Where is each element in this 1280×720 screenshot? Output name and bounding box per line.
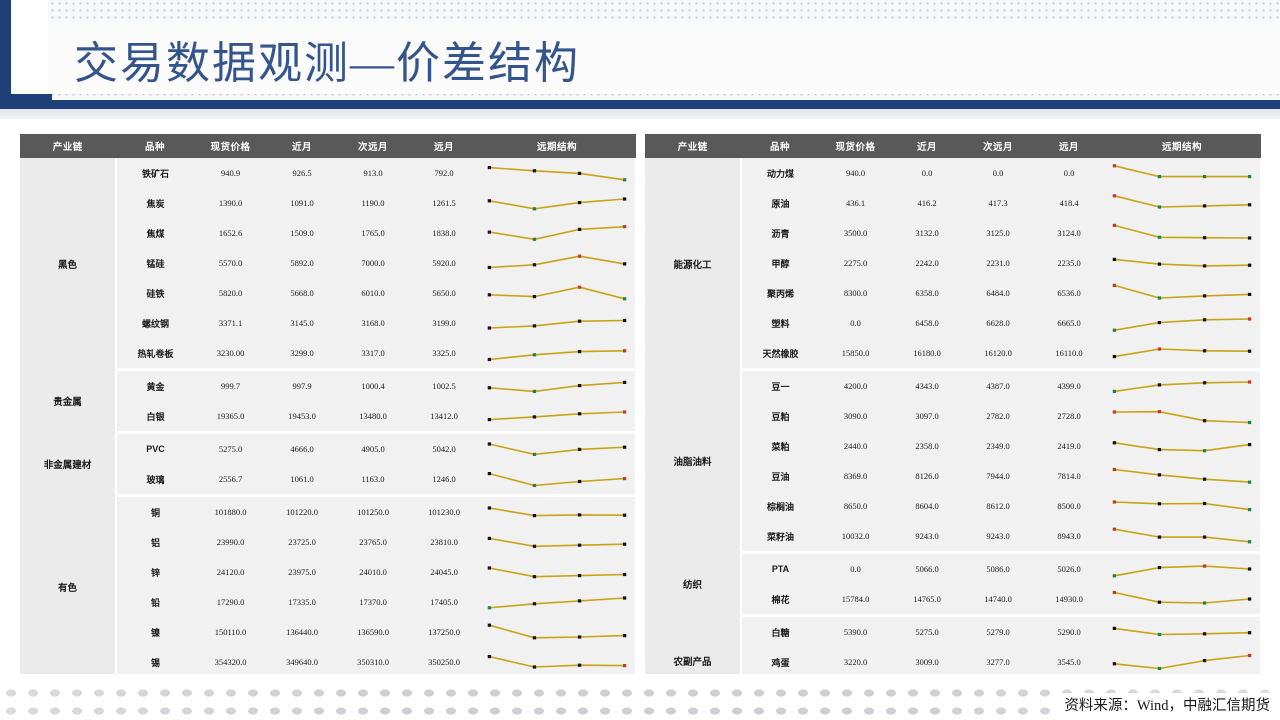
far-month-cell: 5650.0 <box>409 278 479 308</box>
forward-structure-cell <box>1104 401 1260 431</box>
near-month-cell: 17335.0 <box>267 587 337 617</box>
far-month-cell: 17405.0 <box>409 587 479 617</box>
forward-structure-cell <box>1104 218 1260 248</box>
forward-structure-cell <box>1104 308 1260 338</box>
right-table-body: 能源化工动力煤940.00.00.00.0 原油436.1416.2417.34… <box>645 158 1260 707</box>
mid-far-month-cell: 6484.0 <box>962 278 1034 308</box>
variety-cell: 玻璃 <box>116 464 194 496</box>
forward-structure-cell <box>1104 370 1260 402</box>
forward-structure-cell <box>1104 461 1260 491</box>
table-row: 非金属建材PVC5275.04666.04905.05042.0 <box>20 433 635 465</box>
forward-curve-sparkline <box>479 464 635 494</box>
variety-cell: PTA <box>741 553 819 585</box>
far-month-cell: 16110.0 <box>1034 338 1104 370</box>
industry-chain-cell: 非金属建材 <box>20 433 116 496</box>
far-month-cell: 2419.0 <box>1034 431 1104 461</box>
forward-curve-sparkline <box>479 308 635 338</box>
industry-chain-cell: 有色 <box>20 496 116 679</box>
variety-cell: 螺纹钢 <box>116 308 194 338</box>
variety-cell: 聚丙烯 <box>741 278 819 308</box>
table-row: 农副产品白糖5390.05275.05279.05290.0 <box>645 616 1260 648</box>
spot-price-cell: 8650.0 <box>819 491 892 521</box>
mid-far-month-cell: 0.0 <box>962 158 1034 188</box>
mid-far-month-cell: 14740.0 <box>962 584 1034 616</box>
forward-structure-cell <box>479 587 635 617</box>
forward-curve-sparkline <box>1104 401 1260 431</box>
spot-price-cell: 3371.1 <box>194 308 267 338</box>
left-price-table: 产业链 品种 现货价格 近月 次远月 远月 远期结构 黑色铁矿石940.9926… <box>20 134 636 720</box>
mid-far-month-cell: 4905.0 <box>337 433 409 465</box>
forward-curve-sparkline <box>1104 491 1260 521</box>
col-header-structure: 远期结构 <box>479 134 635 158</box>
spot-price-cell: 17290.0 <box>194 587 267 617</box>
spot-price-cell: 4200.0 <box>819 370 892 402</box>
mid-far-month-cell: 2349.0 <box>962 431 1034 461</box>
spot-price-cell: 3220.0 <box>819 647 892 677</box>
forward-curve-sparkline <box>479 371 635 401</box>
far-month-cell: 8943.0 <box>1034 521 1104 553</box>
spot-price-cell: 2556.7 <box>194 464 267 496</box>
spot-price-cell: 2440.0 <box>819 431 892 461</box>
forward-curve-sparkline <box>1104 278 1260 308</box>
forward-structure-cell <box>479 218 635 248</box>
near-month-cell: 3097.0 <box>892 401 962 431</box>
near-month-cell: 1509.0 <box>267 218 337 248</box>
spot-price-cell: 436.1 <box>819 188 892 218</box>
spot-price-cell: 999.7 <box>194 370 267 402</box>
mid-far-month-cell: 4387.0 <box>962 370 1034 402</box>
forward-curve-sparkline <box>1104 248 1260 278</box>
variety-cell: 焦炭 <box>116 188 194 218</box>
forward-curve-sparkline <box>1104 188 1260 218</box>
forward-curve-sparkline <box>1104 158 1260 188</box>
variety-cell: 豆粕 <box>741 401 819 431</box>
spot-price-cell: 940.0 <box>819 158 892 188</box>
variety-cell: 动力煤 <box>741 158 819 188</box>
far-month-cell: 23810.0 <box>409 527 479 557</box>
far-month-cell: 1246.0 <box>409 464 479 496</box>
forward-curve-sparkline <box>479 278 635 308</box>
forward-structure-cell <box>479 278 635 308</box>
forward-curve-sparkline <box>479 218 635 248</box>
far-month-cell: 2235.0 <box>1034 248 1104 278</box>
forward-structure-cell <box>1104 188 1260 218</box>
near-month-cell: 19453.0 <box>267 401 337 433</box>
far-month-cell: 418.4 <box>1034 188 1104 218</box>
mid-far-month-cell: 6010.0 <box>337 278 409 308</box>
spot-price-cell: 5570.0 <box>194 248 267 278</box>
forward-structure-cell <box>1104 584 1260 616</box>
variety-cell: 菜粕 <box>741 431 819 461</box>
far-month-cell: 1261.5 <box>409 188 479 218</box>
forward-structure-cell <box>479 496 635 528</box>
variety-cell: 硅铁 <box>116 278 194 308</box>
far-month-cell: 6536.0 <box>1034 278 1104 308</box>
forward-curve-sparkline <box>1104 584 1260 614</box>
near-month-cell: 23725.0 <box>267 527 337 557</box>
spot-price-cell: 0.0 <box>819 553 892 585</box>
table-row: 能源化工动力煤940.00.00.00.0 <box>645 158 1260 188</box>
mid-far-month-cell: 5086.0 <box>962 553 1034 585</box>
spot-price-cell: 15850.0 <box>819 338 892 370</box>
price-structure-tables: 产业链 品种 现货价格 近月 次远月 远月 远期结构 黑色铁矿石940.9926… <box>20 134 1260 694</box>
forward-curve-sparkline <box>479 527 635 557</box>
near-month-cell: 0.0 <box>892 158 962 188</box>
near-month-cell: 5066.0 <box>892 553 962 585</box>
right-price-table: 产业链 品种 现货价格 近月 次远月 远月 远期结构 能源化工动力煤940.00… <box>645 134 1261 707</box>
mid-far-month-cell: 1765.0 <box>337 218 409 248</box>
industry-chain-cell: 纺织 <box>645 553 741 616</box>
table-row: 油脂油料豆一4200.04343.04387.04399.0 <box>645 370 1260 402</box>
variety-cell: 锌 <box>116 557 194 587</box>
far-month-cell: 7814.0 <box>1034 461 1104 491</box>
variety-cell: 镍 <box>116 617 194 647</box>
variety-cell: 鸡蛋 <box>741 647 819 677</box>
spot-price-cell: 1652.6 <box>194 218 267 248</box>
forward-curve-sparkline <box>479 158 635 188</box>
far-month-cell: 137250.0 <box>409 617 479 647</box>
variety-cell: 棉花 <box>741 584 819 616</box>
forward-structure-cell <box>1104 491 1260 521</box>
forward-curve-sparkline <box>479 647 635 677</box>
col-header-mid: 次远月 <box>337 134 409 158</box>
forward-curve-sparkline <box>1104 371 1260 401</box>
mid-far-month-cell: 23765.0 <box>337 527 409 557</box>
forward-structure-cell <box>1104 647 1260 677</box>
forward-structure-cell <box>1104 278 1260 308</box>
spot-price-cell: 101880.0 <box>194 496 267 528</box>
near-month-cell: 1061.0 <box>267 464 337 496</box>
near-month-cell: 997.9 <box>267 370 337 402</box>
far-month-cell: 5026.0 <box>1034 553 1104 585</box>
variety-cell: 黄金 <box>116 370 194 402</box>
forward-structure-cell <box>479 527 635 557</box>
title-divider-light <box>0 109 1280 119</box>
industry-chain-cell: 能源化工 <box>645 158 741 370</box>
table-row: 黑色铁矿石940.9926.5913.0792.0 <box>20 158 635 188</box>
forward-curve-sparkline <box>1104 338 1260 368</box>
col-header-spot: 现货价格 <box>819 134 892 158</box>
forward-structure-cell <box>479 433 635 465</box>
far-month-cell: 24045.0 <box>409 557 479 587</box>
forward-structure-cell <box>1104 553 1260 585</box>
variety-cell: 锰硅 <box>116 248 194 278</box>
col-header-mid: 次远月 <box>962 134 1034 158</box>
mid-far-month-cell: 3125.0 <box>962 218 1034 248</box>
col-header-chain: 产业链 <box>645 134 741 158</box>
variety-cell: 甲醇 <box>741 248 819 278</box>
industry-chain-cell: 油脂油料 <box>645 370 741 553</box>
mid-far-month-cell: 9243.0 <box>962 521 1034 553</box>
mid-far-month-cell: 3277.0 <box>962 647 1034 677</box>
far-month-cell: 0.0 <box>1034 158 1104 188</box>
forward-curve-sparkline <box>479 587 635 617</box>
spot-price-cell: 150110.0 <box>194 617 267 647</box>
col-header-spot: 现货价格 <box>194 134 267 158</box>
near-month-cell: 5668.0 <box>267 278 337 308</box>
forward-structure-cell <box>479 338 635 370</box>
near-month-cell: 8604.0 <box>892 491 962 521</box>
spot-price-cell: 5820.0 <box>194 278 267 308</box>
mid-far-month-cell: 3317.0 <box>337 338 409 370</box>
spot-price-cell: 23990.0 <box>194 527 267 557</box>
table-header-row: 产业链 品种 现货价格 近月 次远月 远月 远期结构 <box>20 134 635 158</box>
far-month-cell: 4399.0 <box>1034 370 1104 402</box>
mid-far-month-cell: 16120.0 <box>962 338 1034 370</box>
variety-cell: 棕榈油 <box>741 491 819 521</box>
far-month-cell: 3325.0 <box>409 338 479 370</box>
forward-curve-sparkline <box>479 248 635 278</box>
far-month-cell: 1002.5 <box>409 370 479 402</box>
spot-price-cell: 0.0 <box>819 308 892 338</box>
table-header-row: 产业链 品种 现货价格 近月 次远月 远月 远期结构 <box>645 134 1260 158</box>
mid-far-month-cell: 7000.0 <box>337 248 409 278</box>
forward-structure-cell <box>479 464 635 496</box>
mid-far-month-cell: 2782.0 <box>962 401 1034 431</box>
forward-curve-sparkline <box>1104 647 1260 677</box>
title-divider-dark <box>0 100 1280 109</box>
col-header-far: 远月 <box>1034 134 1104 158</box>
forward-curve-sparkline <box>479 188 635 218</box>
forward-structure-cell <box>479 370 635 402</box>
near-month-cell: 6358.0 <box>892 278 962 308</box>
mid-far-month-cell: 1000.4 <box>337 370 409 402</box>
near-month-cell: 1091.0 <box>267 188 337 218</box>
far-month-cell: 8500.0 <box>1034 491 1104 521</box>
left-table-panel: 产业链 品种 现货价格 近月 次远月 远月 远期结构 黑色铁矿石940.9926… <box>20 134 635 694</box>
mid-far-month-cell: 13480.0 <box>337 401 409 433</box>
variety-cell: 铝 <box>116 527 194 557</box>
forward-structure-cell <box>479 188 635 218</box>
near-month-cell: 5892.0 <box>267 248 337 278</box>
variety-cell: 白银 <box>116 401 194 433</box>
far-month-cell: 792.0 <box>409 158 479 188</box>
near-month-cell: 3145.0 <box>267 308 337 338</box>
far-month-cell: 3124.0 <box>1034 218 1104 248</box>
far-month-cell: 5920.0 <box>409 248 479 278</box>
table-row: 纺织PTA0.05066.05086.05026.0 <box>645 553 1260 585</box>
near-month-cell: 101220.0 <box>267 496 337 528</box>
variety-cell: 沥青 <box>741 218 819 248</box>
near-month-cell: 3009.0 <box>892 647 962 677</box>
mid-far-month-cell: 17370.0 <box>337 587 409 617</box>
forward-structure-cell <box>1104 616 1260 648</box>
variety-cell: 豆一 <box>741 370 819 402</box>
forward-curve-sparkline <box>479 557 635 587</box>
far-month-cell: 2728.0 <box>1034 401 1104 431</box>
col-header-far: 远月 <box>409 134 479 158</box>
spot-price-cell: 3500.0 <box>819 218 892 248</box>
forward-curve-sparkline <box>479 338 635 368</box>
forward-curve-sparkline <box>479 617 635 647</box>
industry-chain-cell: 黑色 <box>20 158 116 370</box>
spot-price-cell: 8300.0 <box>819 278 892 308</box>
mid-far-month-cell: 136590.0 <box>337 617 409 647</box>
col-header-near: 近月 <box>267 134 337 158</box>
far-month-cell: 1838.0 <box>409 218 479 248</box>
variety-cell: 白糖 <box>741 616 819 648</box>
mid-far-month-cell: 2231.0 <box>962 248 1034 278</box>
variety-cell: 豆油 <box>741 461 819 491</box>
col-header-chain: 产业链 <box>20 134 116 158</box>
far-month-cell: 13412.0 <box>409 401 479 433</box>
forward-curve-sparkline <box>1104 554 1260 584</box>
page-title: 交易数据观测—价差结构 <box>74 38 580 90</box>
variety-cell: PVC <box>116 433 194 465</box>
forward-curve-sparkline <box>1104 431 1260 461</box>
table-row: 贵金属黄金999.7997.91000.41002.5 <box>20 370 635 402</box>
near-month-cell: 926.5 <box>267 158 337 188</box>
near-month-cell: 6458.0 <box>892 308 962 338</box>
variety-cell: 塑料 <box>741 308 819 338</box>
spot-price-cell: 24120.0 <box>194 557 267 587</box>
spot-price-cell: 940.9 <box>194 158 267 188</box>
near-month-cell: 416.2 <box>892 188 962 218</box>
mid-far-month-cell: 3168.0 <box>337 308 409 338</box>
mid-far-month-cell: 6628.0 <box>962 308 1034 338</box>
near-month-cell: 9243.0 <box>892 521 962 553</box>
variety-cell: 铁矿石 <box>116 158 194 188</box>
far-month-cell: 5042.0 <box>409 433 479 465</box>
spot-price-cell: 5275.0 <box>194 433 267 465</box>
mid-far-month-cell: 24010.0 <box>337 557 409 587</box>
forward-structure-cell <box>479 617 635 647</box>
spot-price-cell: 3090.0 <box>819 401 892 431</box>
near-month-cell: 2242.0 <box>892 248 962 278</box>
variety-cell: 热轧卷板 <box>116 338 194 370</box>
near-month-cell: 4666.0 <box>267 433 337 465</box>
mid-far-month-cell: 1163.0 <box>337 464 409 496</box>
near-month-cell: 8126.0 <box>892 461 962 491</box>
far-month-cell: 101230.0 <box>409 496 479 528</box>
col-header-near: 近月 <box>892 134 962 158</box>
table-row: 有色铜101880.0101220.0101250.0101230.0 <box>20 496 635 528</box>
forward-structure-cell <box>479 158 635 188</box>
near-month-cell: 16180.0 <box>892 338 962 370</box>
near-month-cell: 2358.0 <box>892 431 962 461</box>
forward-curve-sparkline <box>479 497 635 527</box>
spot-price-cell: 19365.0 <box>194 401 267 433</box>
mid-far-month-cell: 7944.0 <box>962 461 1034 491</box>
forward-structure-cell <box>479 401 635 433</box>
spot-price-cell: 1390.0 <box>194 188 267 218</box>
col-header-variety: 品种 <box>116 134 194 158</box>
far-month-cell: 3545.0 <box>1034 647 1104 677</box>
near-month-cell: 4343.0 <box>892 370 962 402</box>
far-month-cell: 5290.0 <box>1034 616 1104 648</box>
forward-structure-cell <box>479 248 635 278</box>
near-month-cell: 136440.0 <box>267 617 337 647</box>
spot-price-cell: 8369.0 <box>819 461 892 491</box>
forward-curve-sparkline <box>479 434 635 464</box>
forward-structure-cell <box>1104 431 1260 461</box>
source-note: 资料来源：Wind，中融汇信期货 <box>1060 693 1274 716</box>
spot-price-cell: 3230.00 <box>194 338 267 370</box>
forward-curve-sparkline <box>1104 218 1260 248</box>
mid-far-month-cell: 101250.0 <box>337 496 409 528</box>
variety-cell: 焦煤 <box>116 218 194 248</box>
forward-structure-cell <box>1104 521 1260 553</box>
mid-far-month-cell: 417.3 <box>962 188 1034 218</box>
mid-far-month-cell: 913.0 <box>337 158 409 188</box>
forward-structure-cell <box>1104 158 1260 188</box>
forward-curve-sparkline <box>479 401 635 431</box>
col-header-structure: 远期结构 <box>1104 134 1260 158</box>
spot-price-cell: 5390.0 <box>819 616 892 648</box>
far-month-cell: 3199.0 <box>409 308 479 338</box>
variety-cell: 铅 <box>116 587 194 617</box>
industry-chain-cell: 贵金属 <box>20 370 116 433</box>
mid-far-month-cell: 5279.0 <box>962 616 1034 648</box>
near-month-cell: 5275.0 <box>892 616 962 648</box>
col-header-variety: 品种 <box>741 134 819 158</box>
spot-price-cell: 15784.0 <box>819 584 892 616</box>
forward-structure-cell <box>1104 338 1260 370</box>
mid-far-month-cell: 8612.0 <box>962 491 1034 521</box>
far-month-cell: 14930.0 <box>1034 584 1104 616</box>
near-month-cell: 3132.0 <box>892 218 962 248</box>
forward-curve-sparkline <box>1104 521 1260 551</box>
left-table-body: 黑色铁矿石940.9926.5913.0792.0 焦炭1390.01091.0… <box>20 158 635 720</box>
forward-structure-cell <box>479 308 635 338</box>
spot-price-cell: 2275.0 <box>819 248 892 278</box>
far-month-cell: 6665.0 <box>1034 308 1104 338</box>
forward-curve-sparkline <box>1104 461 1260 491</box>
right-table-panel: 产业链 品种 现货价格 近月 次远月 远月 远期结构 能源化工动力煤940.00… <box>645 134 1260 694</box>
spot-price-cell: 10032.0 <box>819 521 892 553</box>
near-month-cell: 14765.0 <box>892 584 962 616</box>
variety-cell: 原油 <box>741 188 819 218</box>
forward-curve-sparkline <box>1104 308 1260 338</box>
forward-curve-sparkline <box>1104 617 1260 647</box>
variety-cell: 菜籽油 <box>741 521 819 553</box>
variety-cell: 天然橡胶 <box>741 338 819 370</box>
mid-far-month-cell: 1190.0 <box>337 188 409 218</box>
forward-structure-cell <box>479 557 635 587</box>
near-month-cell: 3299.0 <box>267 338 337 370</box>
variety-cell: 铜 <box>116 496 194 528</box>
near-month-cell: 23975.0 <box>267 557 337 587</box>
forward-structure-cell <box>1104 248 1260 278</box>
